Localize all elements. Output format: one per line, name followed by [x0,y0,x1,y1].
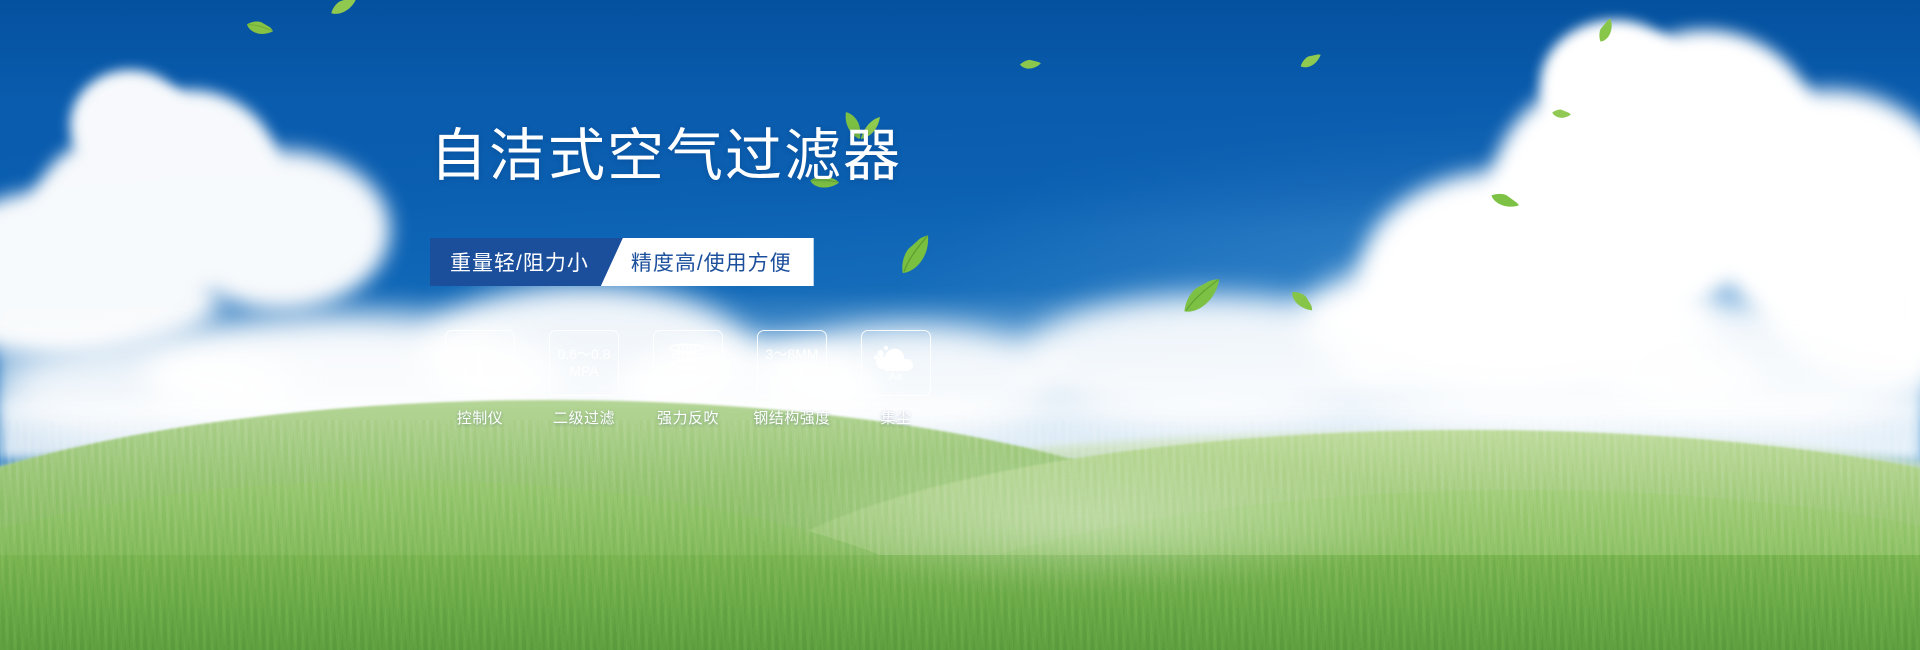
reverse-blow-icon [664,340,712,386]
steel-plate-text: 钢板 [778,363,806,380]
control-dial-box: NO OFF [445,330,515,396]
pressure-unit-text: MPA [569,363,598,380]
feature-item-steel[interactable]: 3～8MM 钢板 钢结构强度 [752,330,832,428]
control-dial-icon: NO OFF [452,338,508,388]
feature-item-control[interactable]: NO OFF 控制仪 [440,330,520,428]
badge-precision-convenience[interactable]: 精度高/使用方便 [601,238,814,286]
page-title: 自洁式空气过滤器 [430,128,902,185]
air-cloud-icon: Air [870,341,922,385]
reverse-blow-box [653,330,723,396]
feature-label-control: 控制仪 [457,407,504,428]
air-text: Air [889,371,903,383]
feature-item-filtration[interactable]: 0.6～0.8 MPA 二级过滤 [544,330,624,428]
feature-label-filtration: 二级过滤 [553,407,615,428]
promo-banner: 自洁式空气过滤器 重量轻/阻力小 精度高/使用方便 [0,0,1920,650]
svg-text:OFF: OFF [494,373,506,387]
feature-label-steel: 钢结构强度 [753,407,831,428]
feature-item-dust[interactable]: Air 集尘 [856,330,936,428]
feature-icon-row: NO OFF 控制仪 0.6～0.8 MPA 二级过滤 [440,330,936,428]
feature-label-reverse-blow: 强力反吹 [657,407,719,428]
steel-plate-text-box: 3～8MM 钢板 [757,330,827,396]
pressure-range-text: 0.6～0.8 [558,346,611,363]
pressure-text-box: 0.6～0.8 MPA [549,330,619,396]
badge-weight-resistance[interactable]: 重量轻/阻力小 [430,238,623,286]
banner-content: 自洁式空气过滤器 重量轻/阻力小 精度高/使用方便 [0,0,1920,650]
steel-thickness-text: 3～8MM [766,346,819,363]
feature-badges: 重量轻/阻力小 精度高/使用方便 [430,238,814,286]
air-cloud-box: Air [861,330,931,396]
feature-label-dust: 集尘 [880,407,911,428]
feature-item-reverse-blow[interactable]: 强力反吹 [648,330,728,428]
